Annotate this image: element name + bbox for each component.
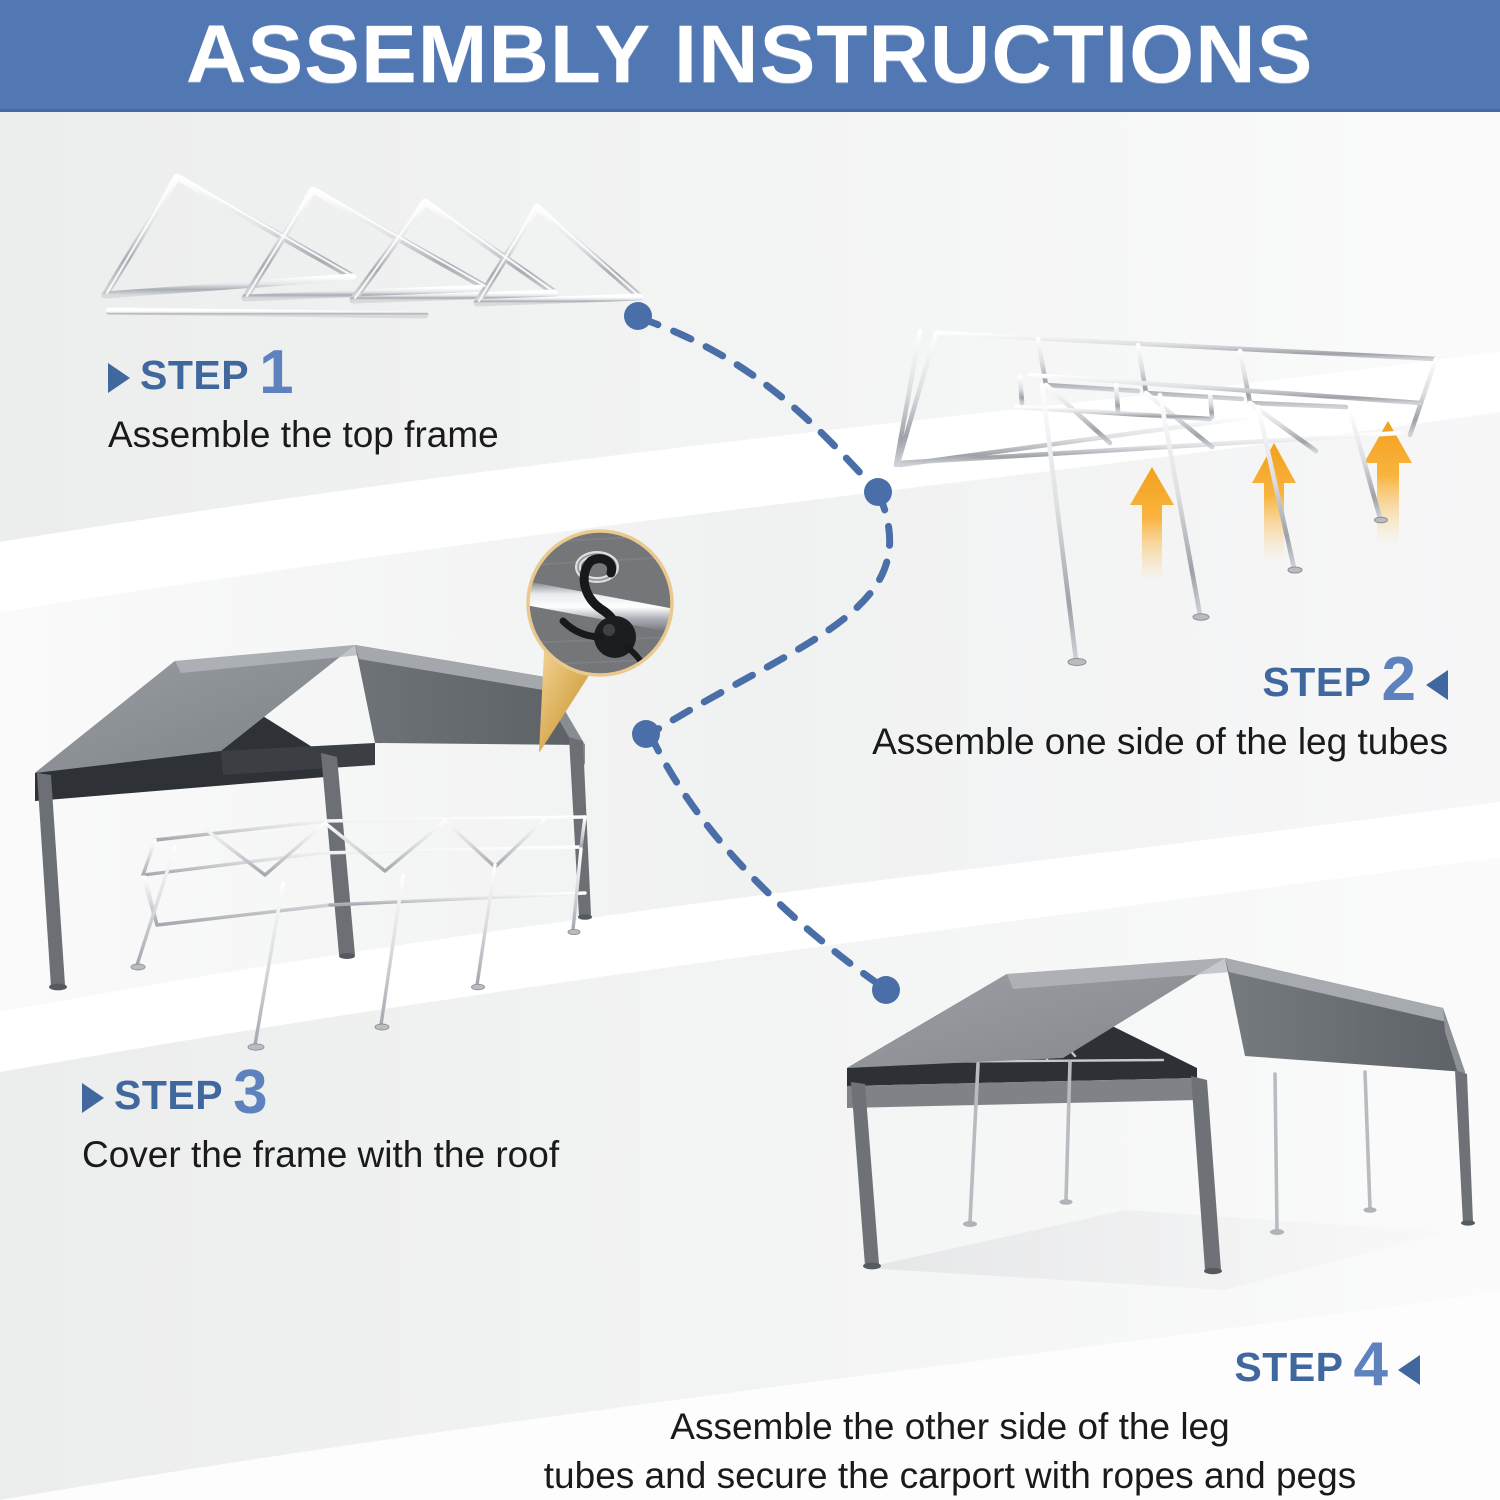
step-1-label: STEP 1 [108, 348, 499, 399]
step-4-word: STEP [1234, 1347, 1343, 1388]
step-1-description: Assemble the top frame [108, 411, 499, 458]
step-3-block: STEP 3 Cover the frame with the roof [82, 1068, 559, 1178]
step-4-label: STEP 4 [480, 1340, 1420, 1391]
step-4-description-line-2: tubes and secure the carport with ropes … [480, 1452, 1420, 1499]
step-3-label: STEP 3 [82, 1068, 559, 1119]
triangle-left-icon [1426, 670, 1448, 700]
step-2-label: STEP 2 [700, 655, 1448, 706]
step-1-word: STEP [140, 355, 249, 396]
step-2-description: Assemble one side of the leg tubes [700, 718, 1448, 765]
triangle-right-icon [108, 363, 130, 393]
step-2-block: STEP 2 Assemble one side of the leg tube… [700, 655, 1448, 765]
connector-segment-3-4 [650, 734, 884, 988]
step-1-number: 1 [259, 348, 293, 399]
step-1-block: STEP 1 Assemble the top frame [108, 348, 499, 458]
step-4-description-line-1: Assemble the other side of the leg [480, 1403, 1420, 1450]
step-4-number: 4 [1354, 1340, 1388, 1391]
step-2-word: STEP [1262, 662, 1371, 703]
step-3-word: STEP [114, 1075, 223, 1116]
triangle-right-icon [82, 1083, 104, 1113]
step-3-description: Cover the frame with the roof [82, 1131, 559, 1178]
connector-nodes [624, 302, 900, 1004]
connector-segment-1-2 [640, 318, 878, 492]
assembly-instructions-page: ASSEMBLY INSTRUCTIONS [0, 0, 1500, 1500]
step-3-number: 3 [233, 1068, 267, 1119]
step-2-number: 2 [1382, 655, 1416, 706]
triangle-left-icon [1398, 1355, 1420, 1385]
step-4-block: STEP 4 Assemble the other side of the le… [480, 1340, 1420, 1500]
